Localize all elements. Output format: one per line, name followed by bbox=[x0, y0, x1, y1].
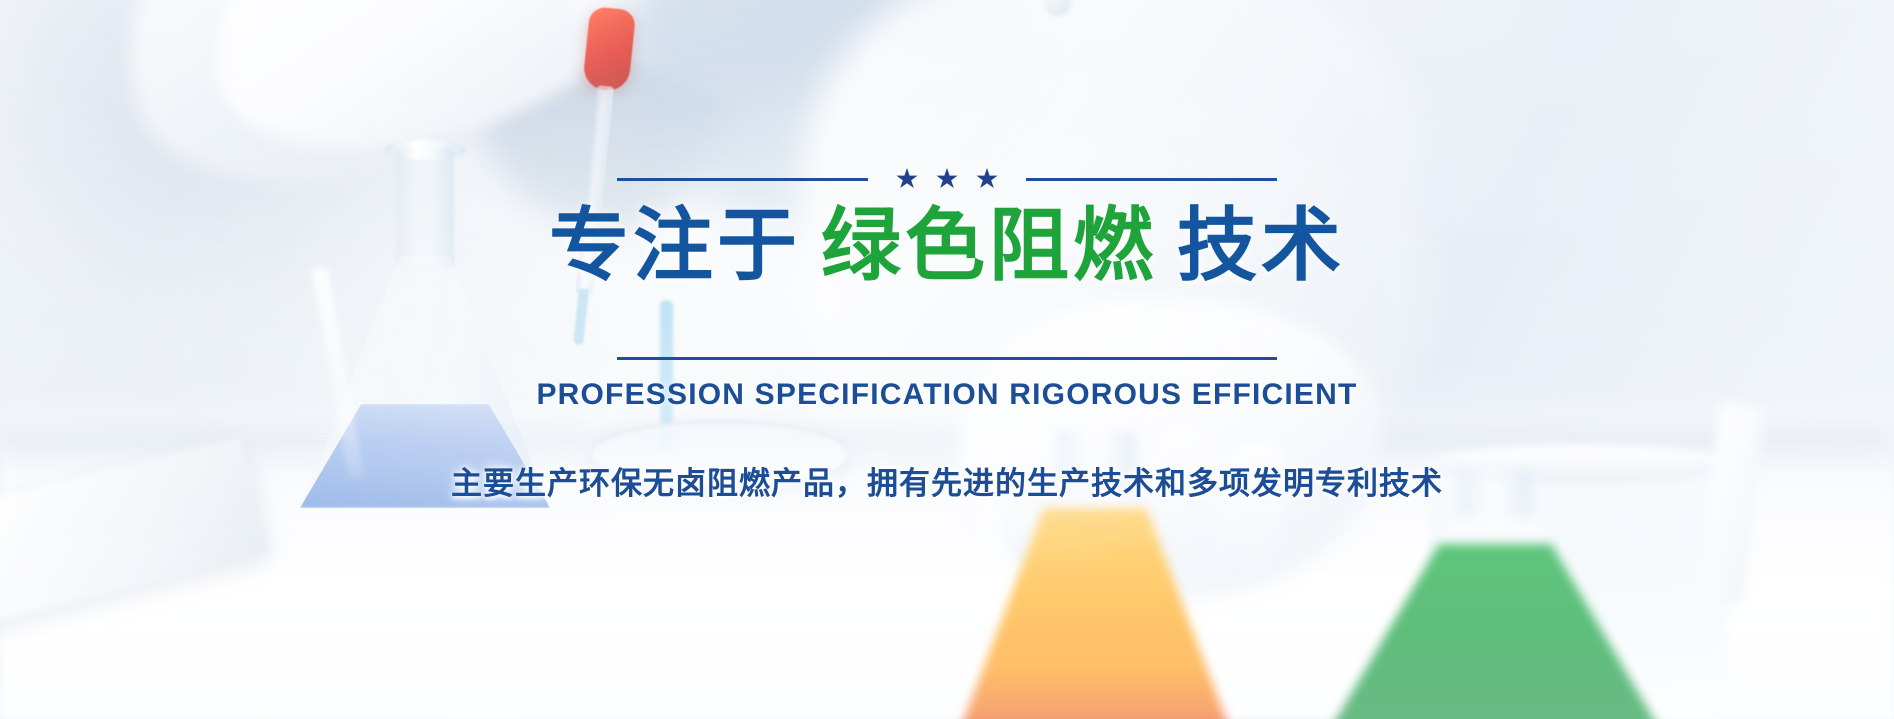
divider-line-left bbox=[617, 178, 868, 181]
title-underline bbox=[617, 357, 1277, 360]
hero-banner: 专注于绿色阻燃技术 PROFESSION SPECIFICATION RIGOR… bbox=[0, 0, 1894, 719]
star-icon bbox=[936, 168, 958, 190]
star-icon bbox=[896, 168, 918, 190]
title-part-technology: 技术 bbox=[1177, 199, 1345, 292]
divider-line-right bbox=[1026, 178, 1277, 181]
subtitle-english: PROFESSION SPECIFICATION RIGOROUS EFFICI… bbox=[536, 378, 1357, 412]
star-group bbox=[896, 168, 998, 190]
banner-content: 专注于绿色阻燃技术 PROFESSION SPECIFICATION RIGOR… bbox=[0, 0, 1894, 719]
subtitle-chinese: 主要生产环保无卤阻燃产品，拥有先进的生产技术和多项发明专利技术 bbox=[451, 458, 1443, 503]
title-part-focus: 专注于 bbox=[549, 199, 801, 292]
star-icon bbox=[976, 168, 998, 190]
page-title: 专注于绿色阻燃技术 bbox=[549, 200, 1345, 291]
decorative-rule-row bbox=[617, 168, 1277, 190]
title-part-green-flame: 绿色阻燃 bbox=[821, 199, 1157, 292]
